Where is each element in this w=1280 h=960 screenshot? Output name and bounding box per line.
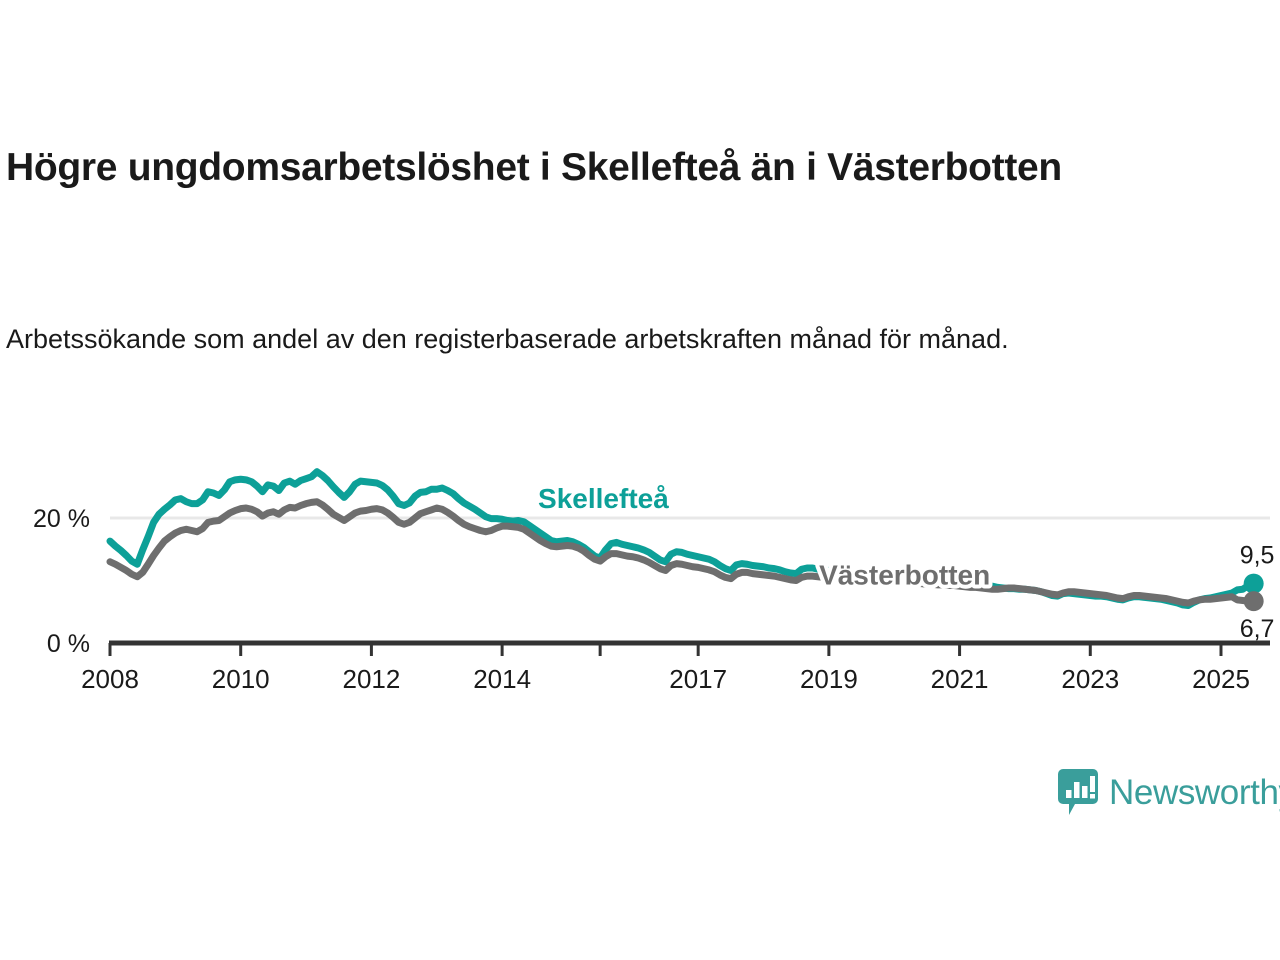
end-value-label-skellefte: 9,5 % (1240, 542, 1280, 570)
x-tick-label: 2025 (1192, 664, 1250, 694)
endpoint-dot-vsterbotten (1244, 591, 1264, 611)
newsworthy-logo[interactable]: Newsworthy (1058, 766, 1280, 818)
series-label-skellefte: Skellefteå (538, 483, 669, 514)
end-point-markers: 9,5 %6,7 % (1240, 542, 1280, 644)
bar-chart-speech-bubble-icon (1058, 769, 1098, 815)
line-chart: SkellefteåSkellefteåVästerbottenVästerbo… (0, 430, 1280, 710)
x-tick-label: 2023 (1061, 664, 1119, 694)
y-axis: 0 %20 % (33, 505, 90, 658)
x-tick-label: 2021 (931, 664, 989, 694)
x-tick-label: 2019 (800, 664, 858, 694)
x-tick-label: 2008 (81, 664, 139, 694)
page-subtitle: Arbetssökande som andel av den registerb… (6, 322, 1186, 358)
end-value-label-vsterbotten: 6,7 % (1240, 615, 1280, 643)
y-tick-label: 20 % (33, 505, 90, 533)
newsworthy-wordmark: Newsworthy (1109, 775, 1280, 810)
x-axis: 200820102012201420172019202120232025 (81, 643, 1270, 694)
y-tick-label: 0 % (47, 630, 90, 658)
chart-page: Högre ungdomsarbetslöshet i Skellefteå ä… (0, 0, 1280, 960)
chart-container: SkellefteåSkellefteåVästerbottenVästerbo… (0, 430, 1280, 710)
series-line-skellefte (110, 472, 1254, 606)
x-tick-label: 2012 (342, 664, 400, 694)
series-label-vsterbotten: Västerbotten (819, 559, 990, 590)
series-lines (110, 472, 1254, 606)
x-tick-label: 2017 (669, 664, 727, 694)
page-title: Högre ungdomsarbetslöshet i Skellefteå ä… (6, 144, 1186, 192)
endpoint-dot-skellefte (1244, 574, 1264, 594)
x-tick-label: 2014 (473, 664, 531, 694)
x-tick-label: 2010 (212, 664, 270, 694)
